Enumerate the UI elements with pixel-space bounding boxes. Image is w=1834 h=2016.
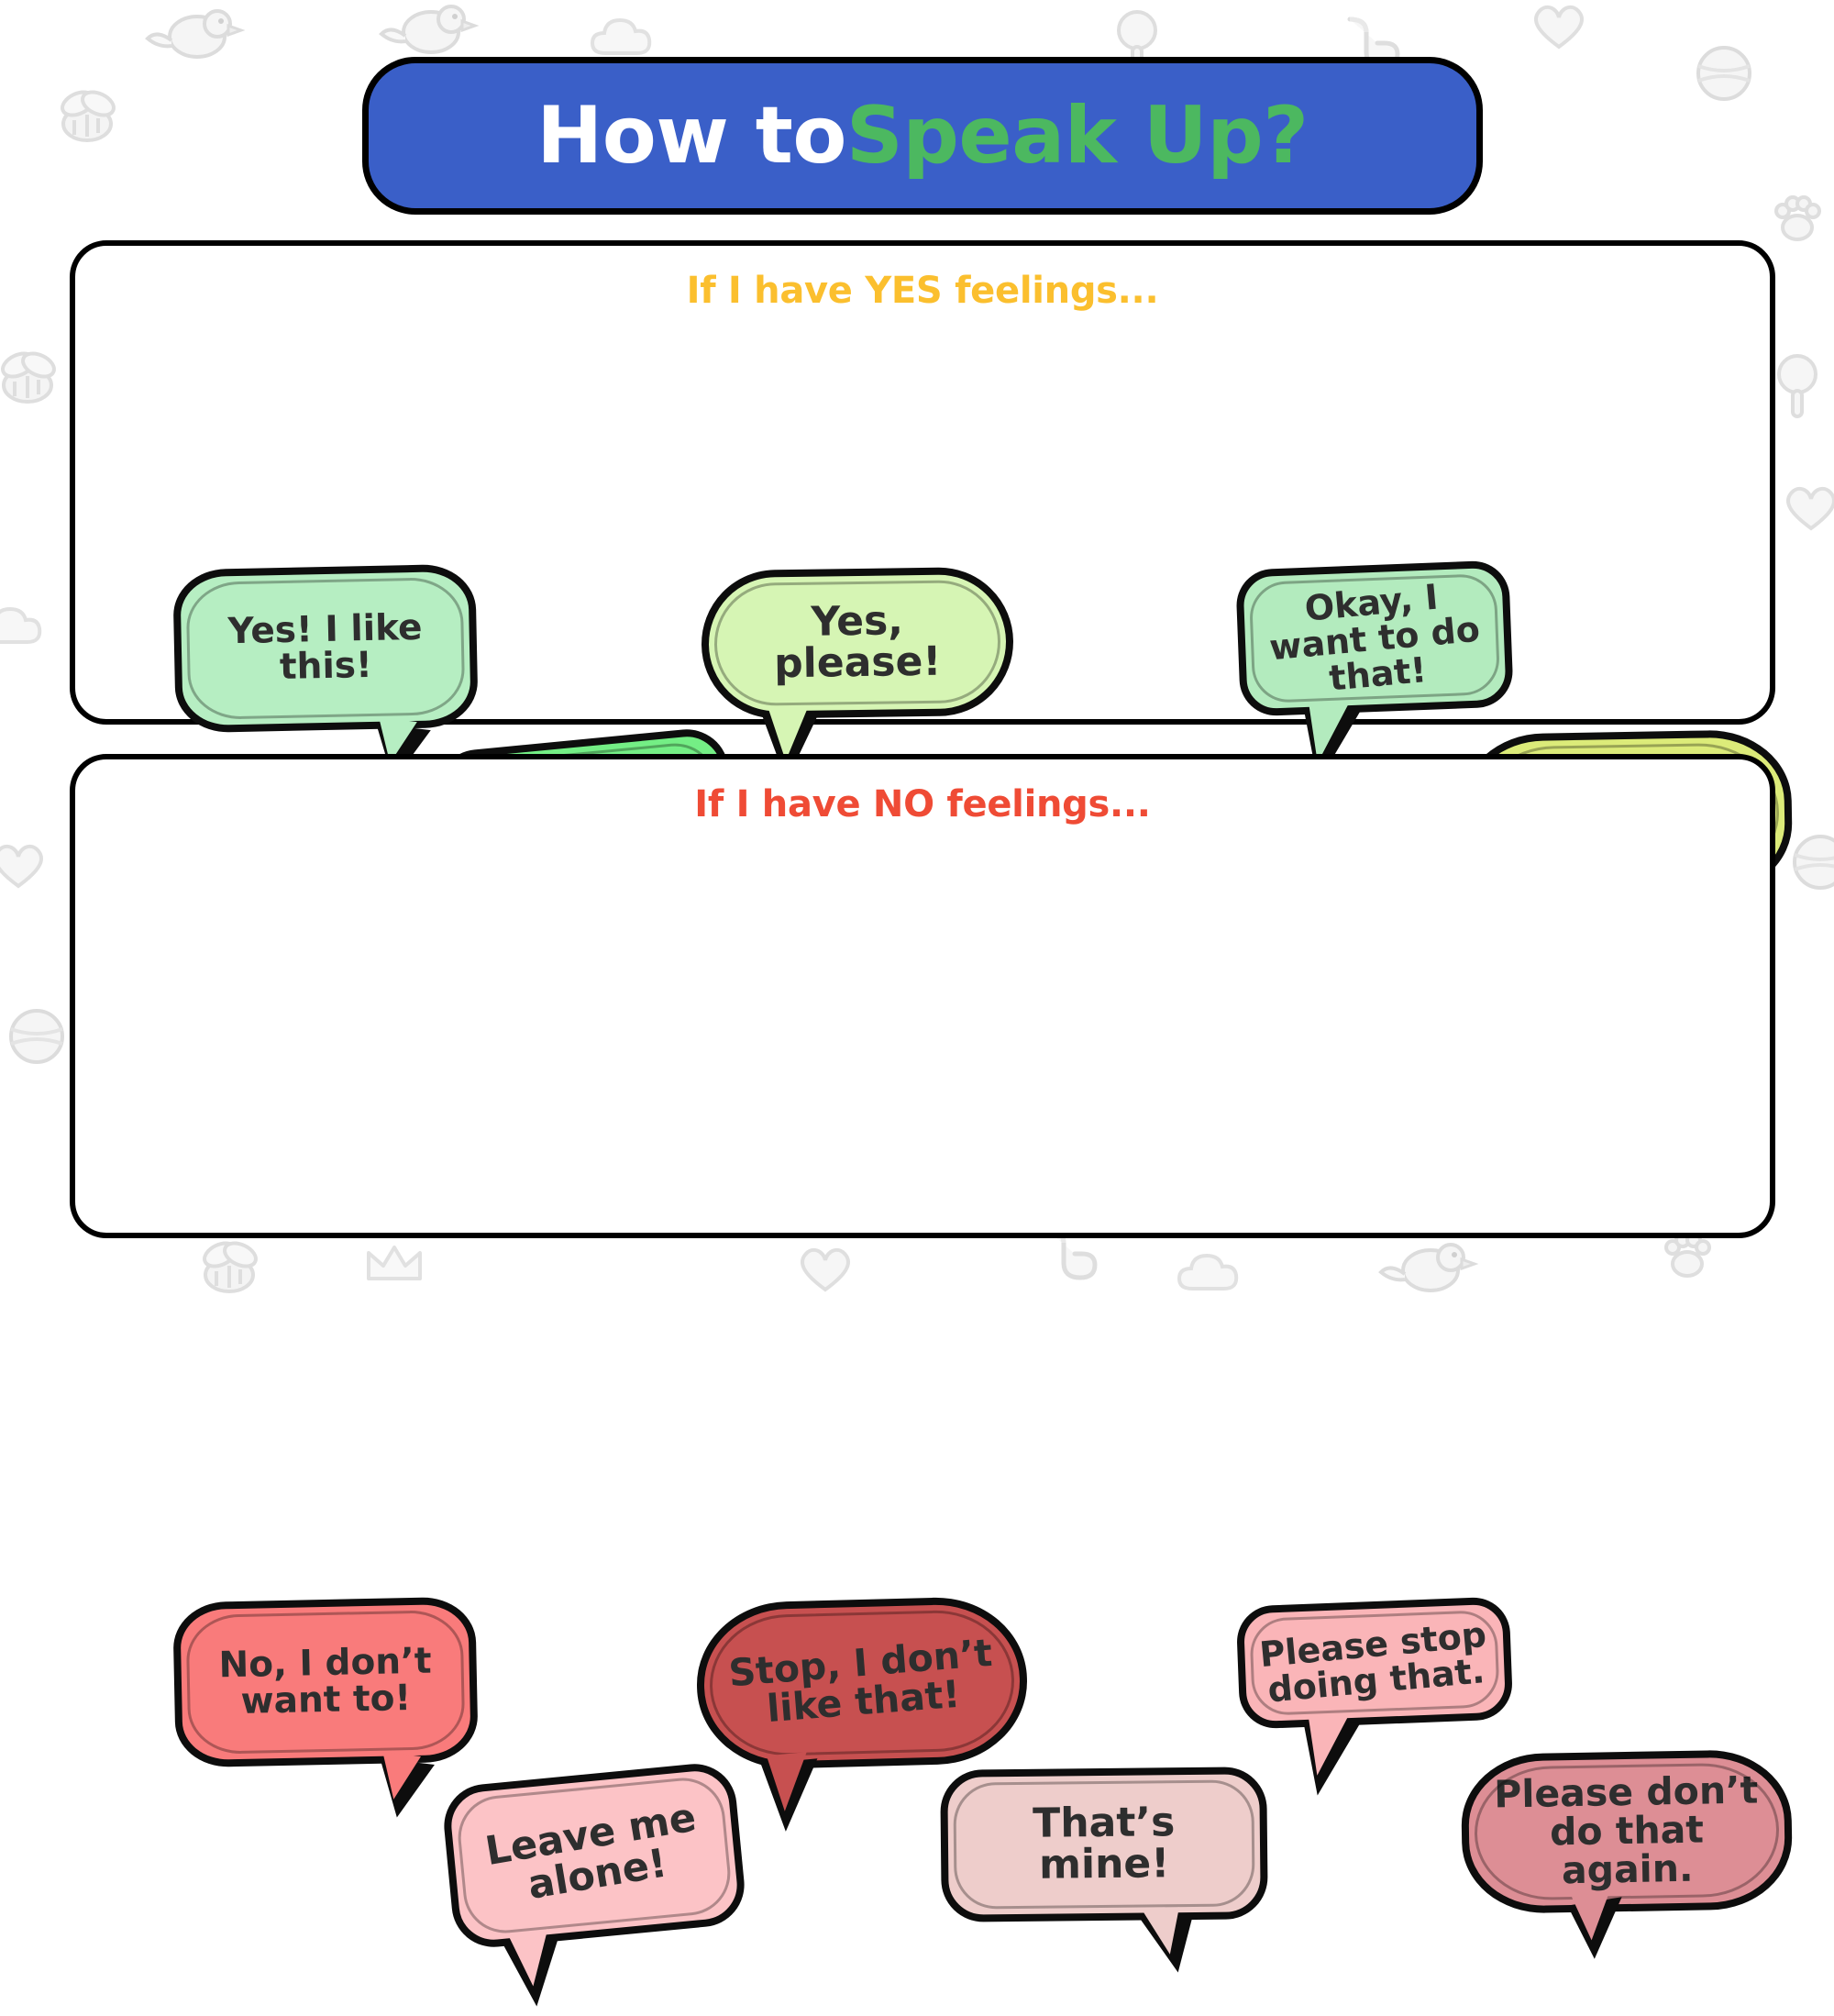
speech-bubble-text: Okay, I want to do that! xyxy=(1254,575,1495,703)
bubble-tail-fill xyxy=(377,1752,421,1802)
bubble-tail-fill xyxy=(767,1752,812,1812)
title-part-speak-up: Speak Up? xyxy=(846,96,1309,175)
bubble-tail xyxy=(373,1758,435,1822)
speech-bubble-text: Please don’t do that again. xyxy=(1481,1772,1773,1892)
speech-bubble-text: Please stop doing that. xyxy=(1255,1617,1494,1709)
bubble-tail-fill xyxy=(1306,1714,1348,1776)
bubble-tail xyxy=(1567,1897,1630,1962)
title-banner: How to Speak Up? xyxy=(362,57,1483,215)
speech-bubble-text: No, I don’t want to! xyxy=(193,1643,458,1722)
panel-yes-feelings: If I have YES feelings... Yes! I like th… xyxy=(70,240,1775,725)
section-header-yes: If I have YES feelings... xyxy=(75,270,1770,312)
speech-bubble-no-4[interactable]: That’s mine! xyxy=(940,1767,1268,1922)
bubble-tail xyxy=(761,1758,824,1833)
speech-bubble-text: That’s mine! xyxy=(961,1801,1248,1887)
title-part-how-to: How to xyxy=(536,96,846,175)
bubble-tail-fill xyxy=(509,1929,558,1988)
speech-bubble-no-5[interactable]: Please stop doing that. xyxy=(1236,1596,1514,1729)
bubble-tail-fill xyxy=(1143,1907,1184,1956)
speech-bubble-no-3[interactable]: Stop, I don’t like that! xyxy=(695,1595,1030,1770)
section-header-no: If I have NO feelings... xyxy=(75,783,1770,825)
speech-bubble-no-1[interactable]: No, I don’t want to! xyxy=(172,1597,479,1768)
bubble-tail xyxy=(503,1934,572,2010)
speech-bubble-text: Stop, I don’t like that! xyxy=(714,1634,1010,1733)
speech-bubble-yes-1[interactable]: Yes! I like this! xyxy=(172,564,479,734)
speech-bubble-text: Yes! I like this! xyxy=(193,609,458,688)
speech-bubble-yes-5[interactable]: Okay, I want to do that! xyxy=(1235,559,1514,716)
panel-no-feelings: If I have NO feelings... No, I don’t wan… xyxy=(70,754,1775,1238)
bubble-tail xyxy=(1301,1722,1360,1797)
bubble-tail-fill xyxy=(1572,1891,1617,1943)
bubble-tail xyxy=(1141,1913,1200,1976)
speech-bubble-text: Yes, please! xyxy=(721,600,993,686)
speech-bubble-yes-3[interactable]: Yes, please! xyxy=(701,567,1014,720)
speech-bubble-text: Leave me alone! xyxy=(463,1795,726,1916)
speech-bubble-no-6[interactable]: Please don’t do that again. xyxy=(1461,1749,1794,1914)
speech-bubble-no-2[interactable]: Leave me alone! xyxy=(440,1760,748,1951)
